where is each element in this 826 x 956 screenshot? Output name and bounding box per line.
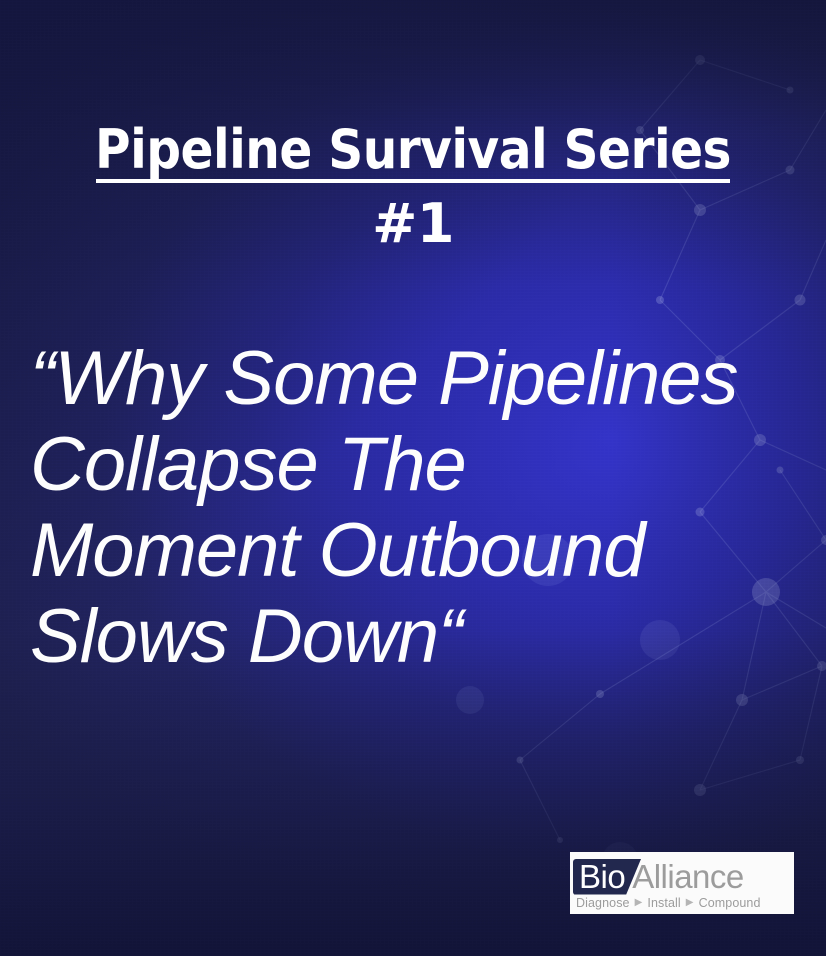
headline-quote: “Why Some Pipelines Collapse The Moment … [30, 336, 800, 680]
series-title-text: Pipeline Survival Series [95, 122, 731, 183]
bioalliance-logo: Bio Alliance Diagnose ▶ Install ▶ Compou… [570, 852, 794, 914]
arrow-right-icon: ▶ [686, 898, 694, 908]
tagline-item-compound: Compound [699, 896, 761, 910]
series-number: #1 [0, 196, 826, 251]
logo-wordmark: Bio Alliance [570, 857, 794, 895]
tagline-item-diagnose: Diagnose [576, 896, 630, 910]
logo-alliance-text: Alliance [632, 859, 744, 895]
series-title: Pipeline Survival Series [0, 122, 826, 183]
logo-bio-mark: Bio [573, 859, 641, 895]
logo-tagline: Diagnose ▶ Install ▶ Compound [570, 896, 794, 910]
tagline-item-install: Install [647, 896, 680, 910]
arrow-right-icon: ▶ [635, 898, 643, 908]
poster-content: Pipeline Survival Series #1 “Why Some Pi… [0, 0, 826, 956]
poster-canvas: Pipeline Survival Series #1 “Why Some Pi… [0, 0, 826, 956]
